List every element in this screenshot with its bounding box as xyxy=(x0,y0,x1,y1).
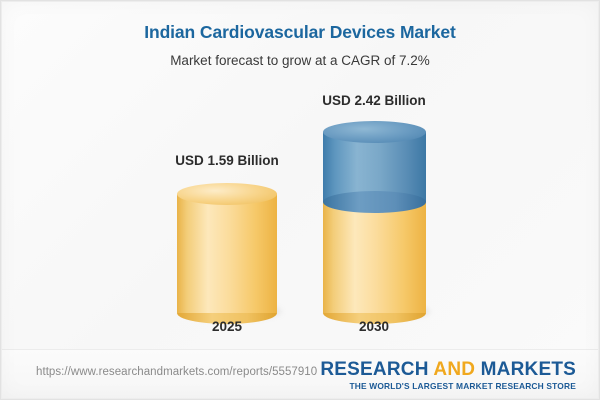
logo-tagline: THE WORLD'S LARGEST MARKET RESEARCH STOR… xyxy=(320,381,576,392)
category-label-2030: 2030 xyxy=(274,319,474,334)
cylinder-growth-bottom-cap-2030 xyxy=(323,191,426,213)
logo-word-and: AND xyxy=(433,359,475,380)
market-forecast-card: Indian Cardiovascular Devices Market Mar… xyxy=(0,0,600,400)
bar-value-label-2025: USD 1.59 Billion xyxy=(127,153,327,168)
bar-segment-growth-2030 xyxy=(323,121,426,202)
bar-segment-base-2025 xyxy=(177,183,277,313)
chart-plot-area: USD 1.59 Billion 2025 USD 2.42 Billion xyxy=(1,1,600,349)
research-and-markets-logo[interactable]: RESEARCH AND MARKETS THE WORLD'S LARGEST… xyxy=(320,359,576,392)
report-url[interactable]: https://www.researchandmarkets.com/repor… xyxy=(36,366,317,378)
bar-value-label-2030: USD 2.42 Billion xyxy=(274,93,474,108)
bar-cylinder-2025 xyxy=(177,183,277,313)
logo-word-research: RESEARCH xyxy=(320,359,428,380)
cylinder-top-cap-2030 xyxy=(323,121,426,143)
bar-group-2025 xyxy=(177,183,277,313)
cylinder-body-2025 xyxy=(177,194,277,313)
logo-word-markets: MARKETS xyxy=(481,359,576,380)
bar-group-2030 xyxy=(323,121,426,313)
cylinder-top-cap-2025 xyxy=(177,183,277,205)
card-footer: https://www.researchandmarkets.com/repor… xyxy=(2,349,598,398)
bar-cylinder-2030 xyxy=(323,121,426,313)
logo-wordmark: RESEARCH AND MARKETS xyxy=(320,359,576,380)
